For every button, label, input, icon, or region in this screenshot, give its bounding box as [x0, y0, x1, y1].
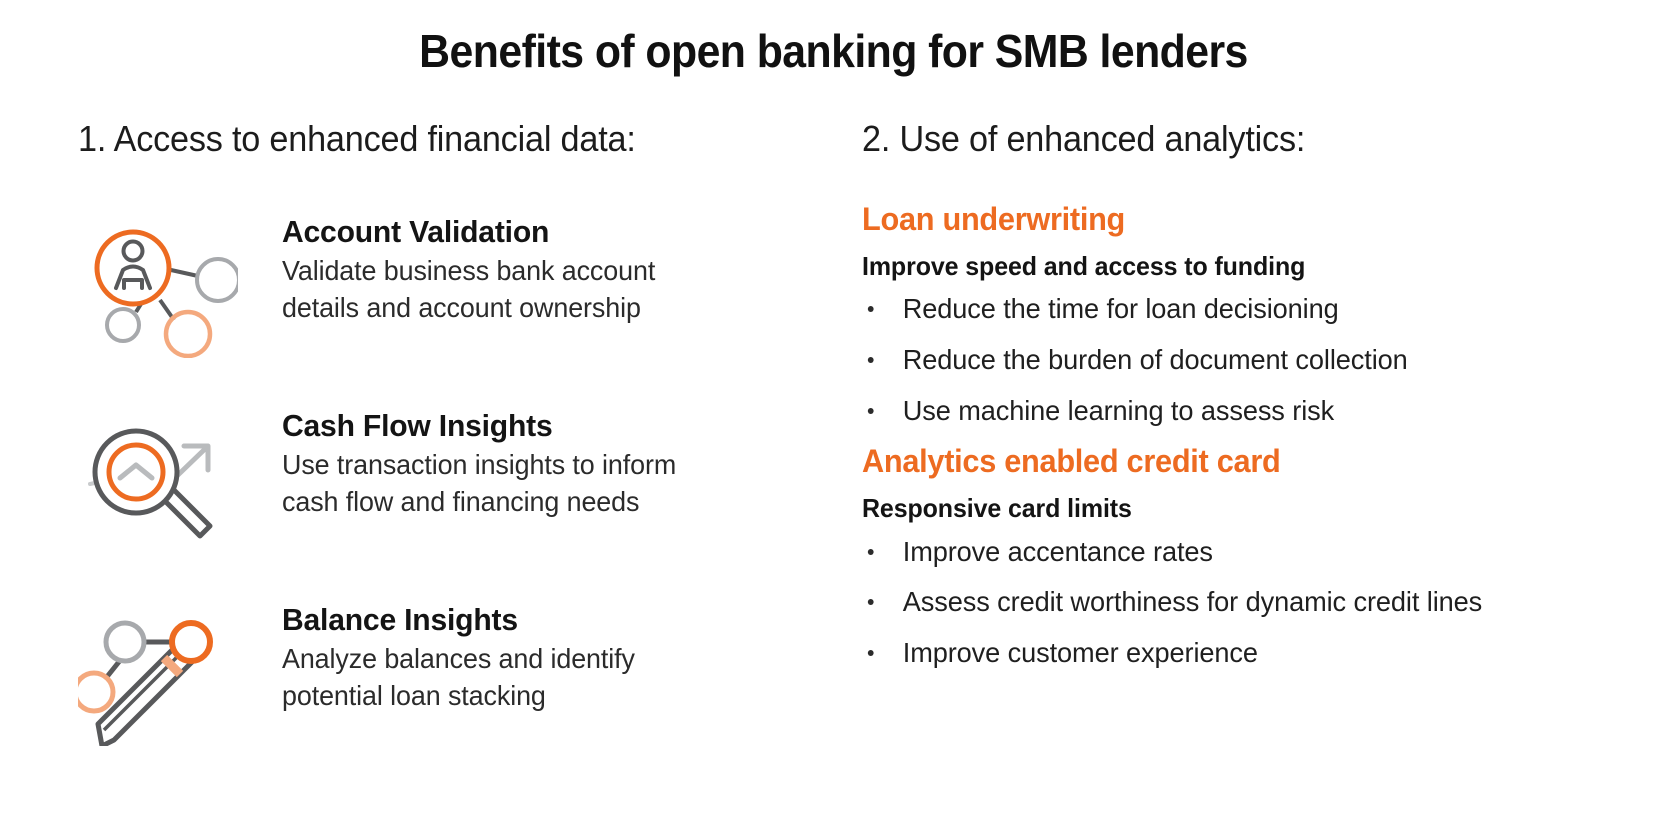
list-item: Reduce the burden of document collection	[862, 343, 1643, 377]
group-title: Loan underwriting	[862, 202, 1635, 237]
left-column: 1. Access to enhanced financial data:	[0, 118, 840, 746]
feature-account-validation: Account Validation Validate business ban…	[78, 208, 840, 358]
bullet-dot-icon	[868, 357, 874, 363]
feature-cash-flow-insights: Cash Flow Insights Use transaction insig…	[78, 402, 840, 552]
group-title: Analytics enabled credit card	[862, 444, 1635, 479]
group-subtitle: Responsive card limits	[862, 493, 1635, 524]
list-item-label: Improve customer experience	[903, 637, 1258, 668]
page-title: Benefits of open banking for SMB lenders	[58, 24, 1608, 78]
list-item-label: Improve accentance rates	[903, 536, 1213, 567]
right-column-heading: 2. Use of enhanced analytics:	[862, 118, 1627, 160]
feature-description: Validate business bank account details a…	[282, 253, 655, 326]
feature-title: Balance Insights	[282, 602, 639, 637]
balance-insights-nodes-pencil-icon	[78, 596, 238, 746]
left-column-heading: 1. Access to enhanced financial data:	[78, 118, 802, 160]
list-item: Reduce the time for loan decisioning	[862, 292, 1643, 326]
feature-description: Analyze balances and identify potential …	[282, 641, 635, 714]
group-subtitle: Improve speed and access to funding	[862, 251, 1635, 282]
list-item-label: Use machine learning to assess risk	[903, 395, 1334, 426]
list-item-label: Reduce the burden of document collection	[903, 344, 1408, 375]
list-item-label: Assess credit worthiness for dynamic cre…	[903, 586, 1482, 617]
feature-text: Cash Flow Insights Use transaction insig…	[238, 402, 693, 520]
group-loan-underwriting: Loan underwriting Improve speed and acce…	[862, 202, 1667, 427]
bullet-list: Reduce the time for loan decisioning Red…	[862, 292, 1667, 427]
list-item: Improve accentance rates	[862, 535, 1643, 569]
group-analytics-enabled-credit-card: Analytics enabled credit card Responsive…	[862, 444, 1667, 669]
list-item: Use machine learning to assess risk	[862, 394, 1643, 428]
feature-title: Cash Flow Insights	[282, 408, 680, 443]
cash-flow-magnifier-trend-icon	[78, 402, 238, 552]
slide-root: Benefits of open banking for SMB lenders…	[0, 0, 1667, 834]
feature-balance-insights: Balance Insights Analyze balances and id…	[78, 596, 840, 746]
two-column-layout: 1. Access to enhanced financial data:	[0, 118, 1667, 834]
feature-title: Account Validation	[282, 214, 659, 249]
feature-text: Balance Insights Analyze balances and id…	[238, 596, 650, 714]
list-item: Assess credit worthiness for dynamic cre…	[862, 585, 1643, 619]
bullet-dot-icon	[868, 650, 874, 656]
right-column: 2. Use of enhanced analytics: Loan under…	[840, 118, 1667, 686]
list-item-label: Reduce the time for loan decisioning	[903, 293, 1339, 324]
list-item: Improve customer experience	[862, 636, 1643, 670]
bullet-dot-icon	[868, 408, 874, 414]
feature-description: Use transaction insights to inform cash …	[282, 447, 676, 520]
bullet-dot-icon	[868, 599, 874, 605]
bullet-dot-icon	[868, 549, 874, 555]
feature-text: Account Validation Validate business ban…	[238, 208, 671, 326]
bullet-dot-icon	[868, 306, 874, 312]
bullet-list: Improve accentance rates Assess credit w…	[862, 535, 1667, 670]
account-validation-network-icon	[78, 208, 238, 358]
